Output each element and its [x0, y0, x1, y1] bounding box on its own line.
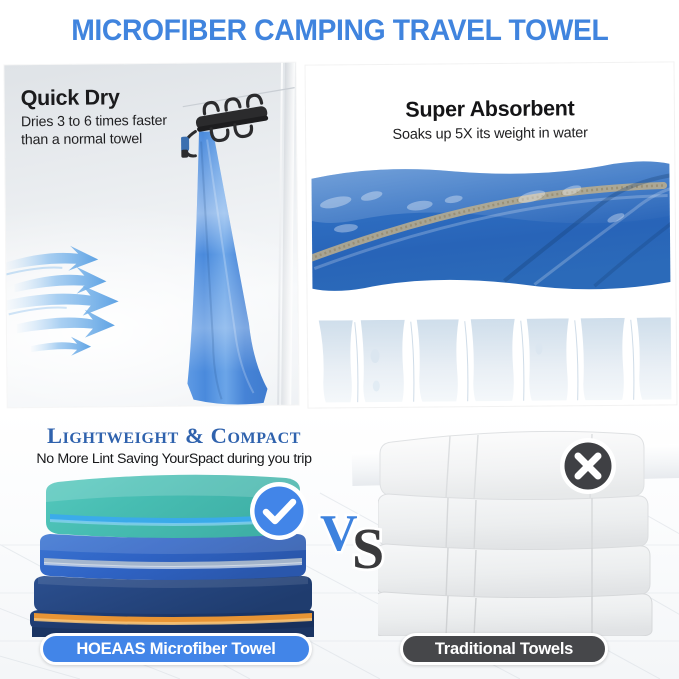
infographic-page: MICROFIBER CAMPING TRAVEL TOWEL Quick Dr…: [0, 0, 679, 679]
comparison-text-block: Lightweight & Compact No More Lint Savin…: [14, 424, 334, 467]
quick-dry-subtitle-line1: Dries 3 to 6 times faster: [21, 111, 236, 131]
wet-towel-icon: [311, 159, 672, 342]
towel-white-4: [378, 592, 652, 636]
absorbent-title: Super Absorbent: [311, 95, 669, 123]
vs-badge: V S: [318, 500, 404, 576]
header: MICROFIBER CAMPING TRAVEL TOWEL: [0, 0, 679, 62]
towel-white-2: [378, 494, 648, 552]
towel-white-3: [378, 544, 650, 600]
quick-dry-text-block: Quick Dry Dries 3 to 6 times faster than…: [21, 85, 237, 149]
quick-dry-panel: Quick Dry Dries 3 to 6 times faster than…: [4, 63, 298, 408]
absorbent-inner-frame: Super Absorbent Soaks up 5X its weight i…: [311, 67, 672, 402]
traditional-label-pill[interactable]: Traditional Towels: [400, 633, 608, 665]
microfiber-label-text: HOEAAS Microfiber Towel: [76, 640, 275, 659]
airflow-arrows-icon: [6, 239, 187, 366]
vs-right-letter: S: [352, 516, 384, 576]
microfiber-label-pill[interactable]: HOEAAS Microfiber Towel: [40, 633, 312, 665]
quick-dry-subtitle-line2: than a normal towel: [21, 129, 236, 149]
feature-panels-row: Quick Dry Dries 3 to 6 times faster than…: [0, 62, 679, 410]
comparison-title: Lightweight & Compact: [14, 424, 334, 449]
quick-dry-title: Quick Dry: [21, 85, 236, 110]
page-title: MICROFIBER CAMPING TRAVEL TOWEL: [71, 14, 608, 48]
absorbent-subtitle: Soaks up 5X its weight in water: [311, 124, 669, 143]
super-absorbent-panel: Super Absorbent Soaks up 5X its weight i…: [306, 62, 677, 407]
towel-navy: [34, 576, 312, 616]
traditional-towel-stack: [378, 418, 666, 636]
absorbent-text-block: Super Absorbent Soaks up 5X its weight i…: [311, 95, 669, 143]
x-circle-icon: [559, 437, 617, 495]
comparison-subtitle: No More Lint Saving YourSpact during you…: [14, 451, 334, 467]
traditional-label-text: Traditional Towels: [435, 640, 573, 659]
check-circle-icon: [249, 481, 309, 541]
